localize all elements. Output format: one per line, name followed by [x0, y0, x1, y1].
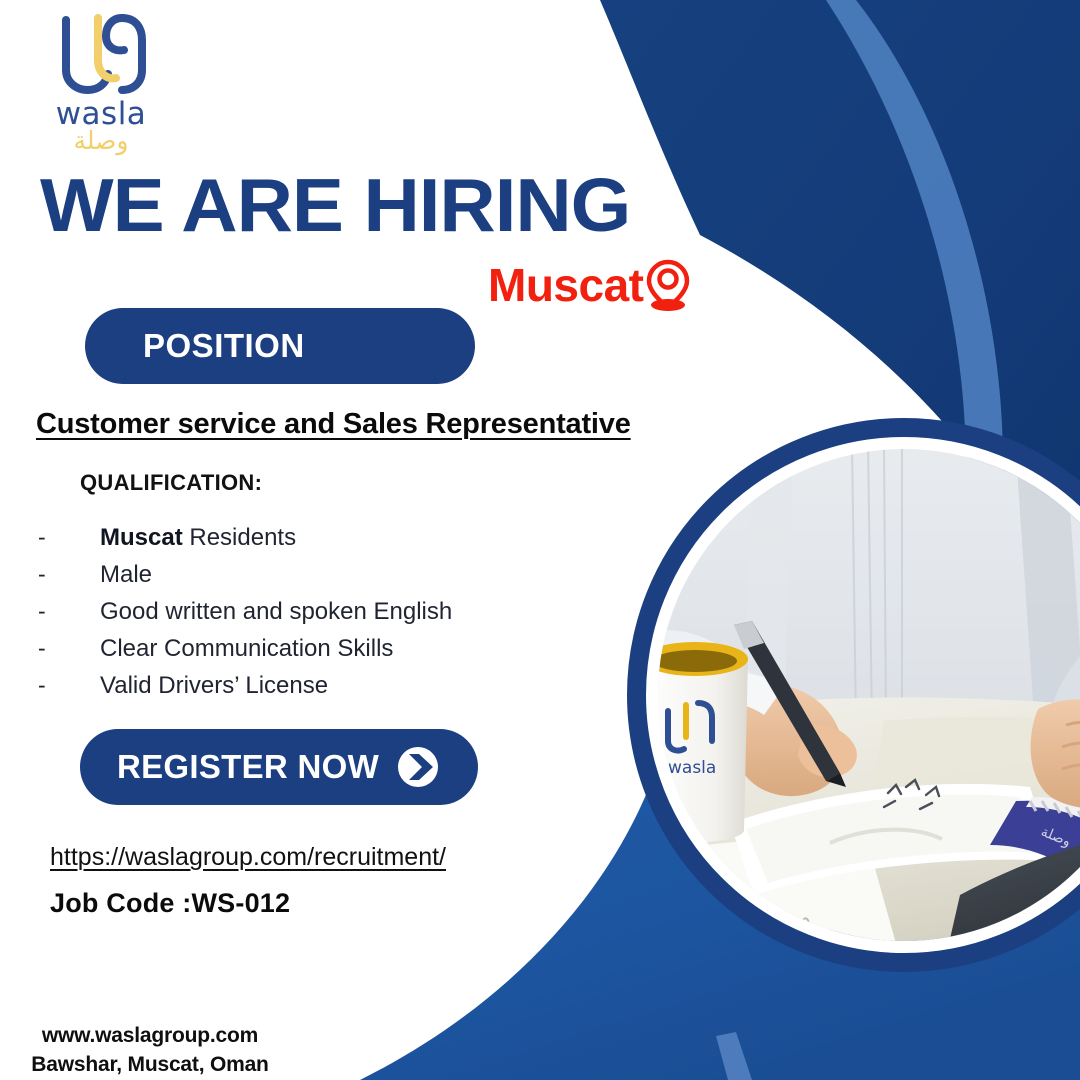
footer-address: Bawshar, Muscat, Oman	[0, 1051, 300, 1080]
recruitment-link[interactable]: https://waslagroup.com/recruitment/	[50, 843, 446, 872]
city-label: Muscat	[488, 262, 643, 308]
job-code: Job Code :WS-012	[50, 888, 290, 919]
position-badge-label: POSITION	[143, 327, 305, 365]
position-badge: POSITION	[85, 308, 475, 384]
job-title: Customer service and Sales Representativ…	[36, 408, 631, 441]
city-badge: Muscat	[488, 258, 691, 312]
logo-arabic-wordmark: وصلة	[36, 128, 166, 153]
footer: www.waslagroup.com Bawshar, Muscat, Oman	[0, 1022, 300, 1080]
register-now-button[interactable]: REGISTER NOW	[80, 729, 478, 805]
list-item-label: Male	[100, 561, 152, 589]
location-pin-icon	[645, 258, 691, 312]
qualification-list: - Muscat Residents - Male - Good written…	[38, 524, 578, 709]
bullet-dash: -	[38, 672, 100, 699]
list-item-rest: Residents	[183, 524, 296, 551]
arrow-right-circle-icon	[395, 744, 441, 790]
bullet-dash: -	[38, 561, 100, 588]
wasla-logo: wasla وصلة	[36, 14, 166, 149]
list-item: - Clear Communication Skills	[38, 635, 578, 672]
page-title: WE ARE HIRING	[40, 168, 630, 243]
hiring-poster: و	[0, 0, 1080, 1080]
list-item: - Male	[38, 561, 578, 598]
list-item: - Valid Drivers’ License	[38, 672, 578, 709]
footer-website: www.waslagroup.com	[0, 1022, 300, 1051]
list-item: - Good written and spoken English	[38, 598, 578, 635]
desk-photo-illustration: و	[634, 425, 1080, 965]
bullet-dash: -	[38, 598, 100, 625]
qualification-heading: QUALIFICATION:	[80, 470, 262, 496]
list-item-label: Valid Drivers’ License	[100, 672, 328, 700]
register-now-label: REGISTER NOW	[117, 748, 379, 786]
list-item-emphasis: Muscat	[100, 524, 183, 551]
bullet-dash: -	[38, 635, 100, 662]
list-item: - Muscat Residents	[38, 524, 578, 561]
list-item-label: Clear Communication Skills	[100, 635, 393, 663]
svg-text:wasla: wasla	[668, 758, 716, 778]
wasla-monogram-icon	[36, 14, 166, 96]
hero-photo: و	[634, 425, 1080, 965]
bullet-dash: -	[38, 524, 100, 551]
list-item-label: Muscat Residents	[100, 524, 296, 552]
list-item-label: Good written and spoken English	[100, 598, 452, 626]
